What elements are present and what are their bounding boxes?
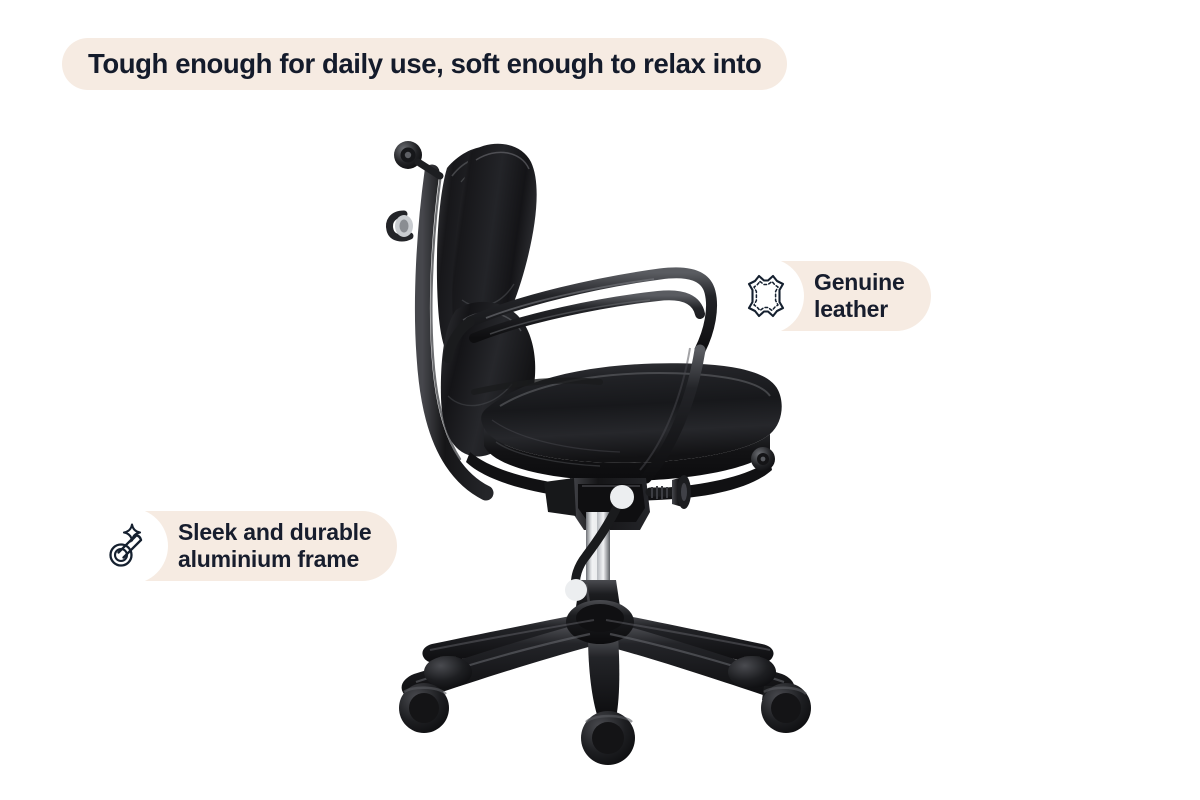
aluminium-tube-sparkle-icon <box>92 508 168 584</box>
feature-badge-genuine-leather: Genuine leather <box>728 258 931 334</box>
headline-pill: Tough enough for daily use, soft enough … <box>62 38 787 90</box>
badge-label-genuine-leather: Genuine leather <box>814 269 905 322</box>
page-title: Tough enough for daily use, soft enough … <box>88 50 761 78</box>
badge-label-aluminium-frame: Sleek and durable aluminium frame <box>178 519 371 572</box>
feature-badge-aluminium-frame: Sleek and durable aluminium frame <box>92 508 397 584</box>
office-chair-illustration <box>0 0 1200 800</box>
product-feature-image: Tough enough for daily use, soft enough … <box>0 0 1200 800</box>
leather-hide-icon <box>728 258 804 334</box>
